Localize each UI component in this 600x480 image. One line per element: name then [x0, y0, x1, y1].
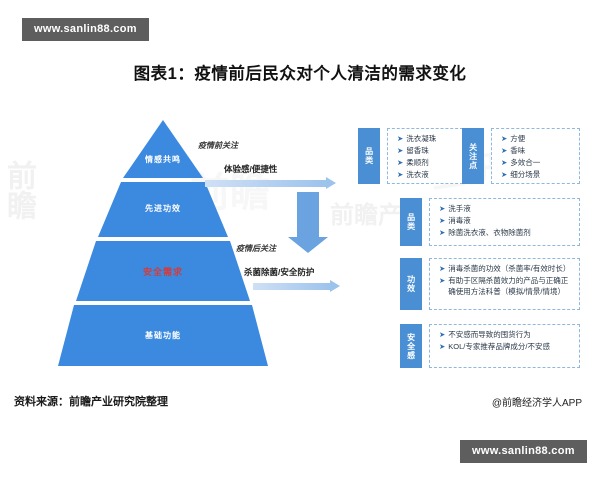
list-item-text: 消毒液: [448, 216, 573, 227]
watermark-top: www.sanlin88.com: [22, 18, 149, 41]
panel-body: ➤ 方便 ➤ 香味 ➤ 多效合一 ➤ 细分场景: [491, 128, 580, 184]
arrow-down: [297, 192, 319, 238]
list-item: ➤ 消毒杀菌的功效（杀菌率/有效时长）: [439, 264, 573, 275]
list-item: ➤ 洗衣凝珠: [397, 134, 456, 145]
list-item: ➤ 香味: [501, 146, 573, 157]
list-item: ➤ 柔顺剂: [397, 158, 456, 169]
list-item: ➤ KOL/专家推荐品牌成分/不安感: [439, 342, 573, 353]
annotation-after-label: 杀菌除菌/安全防护: [244, 266, 314, 278]
list-item-text: 消毒杀菌的功效（杀菌率/有效时长）: [448, 264, 573, 275]
bullet-icon: ➤: [501, 134, 507, 145]
bullet-icon: ➤: [501, 146, 507, 157]
list-item-text: KOL/专家推荐品牌成分/不安感: [448, 342, 573, 353]
panel-tag: 安全感: [400, 324, 422, 368]
list-item-text: 留香珠: [406, 146, 456, 157]
annotation-before-label: 体验感/便捷性: [224, 163, 277, 175]
panel-tag-label: 品类: [406, 213, 415, 231]
panel-tag: 品类: [358, 128, 380, 184]
arrow-right-bottom: [253, 283, 331, 290]
bullet-icon: ➤: [439, 330, 445, 341]
bullet-icon: ➤: [501, 170, 507, 181]
background-watermark-left: 前瞻: [0, 160, 40, 220]
list-item-text: 有助于区隔杀菌效力的产品与正确正确使用方法科普（模拟/情景/情境）: [448, 276, 573, 298]
annotation-before-tag: 疫情前关注: [198, 140, 238, 151]
bullet-icon: ➤: [439, 204, 445, 215]
list-item: ➤ 方便: [501, 134, 573, 145]
bullet-icon: ➤: [397, 158, 403, 169]
panel-tag: 功效: [400, 258, 422, 310]
list-item: ➤ 有助于区隔杀菌效力的产品与正确正确使用方法科普（模拟/情景/情境）: [439, 276, 573, 298]
bullet-icon: ➤: [397, 170, 403, 181]
panel-body: ➤ 洗衣凝珠 ➤ 留香珠 ➤ 柔顺剂 ➤ 洗衣液: [387, 128, 463, 184]
panel-focus-before: 关注点 ➤ 方便 ➤ 香味 ➤ 多效合一 ➤ 细分场景: [462, 128, 580, 184]
panel-body: ➤ 洗手液 ➤ 消毒液 ➤ 除菌洗衣液、衣物除菌剂: [429, 198, 580, 246]
list-item-text: 柔顺剂: [406, 158, 456, 169]
panel-tag: 关注点: [462, 128, 484, 184]
list-item: ➤ 细分场景: [501, 170, 573, 181]
annotation-after-tag: 疫情后关注: [236, 243, 276, 254]
background-watermark-center: 前瞻产: [330, 195, 402, 230]
panel-tag-label: 功效: [406, 275, 415, 293]
list-item-text: 多效合一: [510, 158, 573, 169]
list-item-text: 洗衣凝珠: [406, 134, 456, 145]
page-title: 图表1：疫情前后民众对个人清洁的需求变化: [0, 60, 600, 84]
list-item-text: 洗手液: [448, 204, 573, 215]
list-item-text: 方便: [510, 134, 573, 145]
panel-efficacy: 功效 ➤ 消毒杀菌的功效（杀菌率/有效时长） ➤ 有助于区隔杀菌效力的产品与正确…: [400, 258, 580, 310]
watermark-bottom: www.sanlin88.com: [460, 440, 587, 463]
list-item-text: 香味: [510, 146, 573, 157]
bullet-icon: ➤: [397, 146, 403, 157]
list-item: ➤ 除菌洗衣液、衣物除菌剂: [439, 228, 573, 239]
panel-tag: 品类: [400, 198, 422, 246]
panel-category-before: 品类 ➤ 洗衣凝珠 ➤ 留香珠 ➤ 柔顺剂 ➤ 洗衣液: [358, 128, 463, 184]
list-item-text: 不安感而导致的囤货行为: [448, 330, 573, 341]
source-note: 资料来源：前瞻产业研究院整理: [14, 393, 168, 409]
list-item: ➤ 多效合一: [501, 158, 573, 169]
bullet-icon: ➤: [439, 264, 445, 275]
list-item-text: 除菌洗衣液、衣物除菌剂: [448, 228, 573, 239]
panel-body: ➤ 不安感而导致的囤货行为 ➤ KOL/专家推荐品牌成分/不安感: [429, 324, 580, 368]
panel-tag-label: 品类: [364, 147, 373, 165]
bullet-icon: ➤: [501, 158, 507, 169]
panel-safety: 安全感 ➤ 不安感而导致的囤货行为 ➤ KOL/专家推荐品牌成分/不安感: [400, 324, 580, 368]
panel-tag-label: 安全感: [406, 333, 415, 360]
bullet-icon: ➤: [439, 228, 445, 239]
list-item: ➤ 不安感而导致的囤货行为: [439, 330, 573, 341]
bullet-icon: ➤: [397, 134, 403, 145]
arrow-right-top: [205, 180, 327, 187]
bullet-icon: ➤: [439, 276, 445, 287]
panel-body: ➤ 消毒杀菌的功效（杀菌率/有效时长） ➤ 有助于区隔杀菌效力的产品与正确正确使…: [429, 258, 580, 310]
list-item-text: 细分场景: [510, 170, 573, 181]
bullet-icon: ➤: [439, 216, 445, 227]
bullet-icon: ➤: [439, 342, 445, 353]
panel-category-after: 品类 ➤ 洗手液 ➤ 消毒液 ➤ 除菌洗衣液、衣物除菌剂: [400, 198, 580, 246]
list-item: ➤ 洗手液: [439, 204, 573, 215]
list-item: ➤ 留香珠: [397, 146, 456, 157]
list-item: ➤ 洗衣液: [397, 170, 456, 181]
credit-note: @前瞻经济学人APP: [492, 394, 582, 409]
panel-tag-label: 关注点: [468, 143, 477, 170]
list-item: ➤ 消毒液: [439, 216, 573, 227]
list-item-text: 洗衣液: [406, 170, 456, 181]
